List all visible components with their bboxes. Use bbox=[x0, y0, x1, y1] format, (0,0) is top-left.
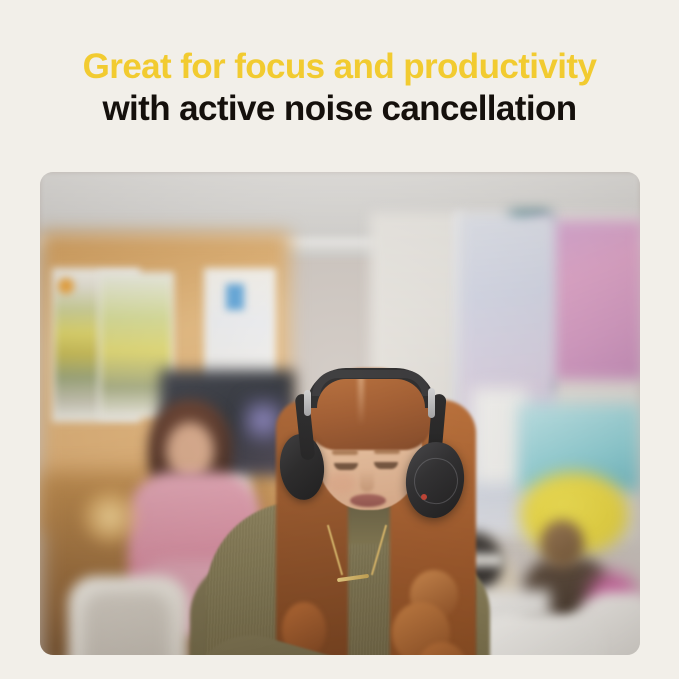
subject-nose bbox=[360, 470, 374, 492]
headphone-status-indicator bbox=[421, 494, 427, 500]
office-chair-left-back bbox=[84, 592, 170, 655]
desk-lamp-glow bbox=[82, 490, 138, 544]
promo-card: Great for focus and productivity with ac… bbox=[0, 0, 679, 679]
subject-cheek-highlight bbox=[326, 472, 356, 494]
subject-eye-right bbox=[374, 462, 398, 469]
headphone-headband-pad bbox=[312, 370, 430, 396]
page-title: Great for focus and productivity with ac… bbox=[0, 46, 679, 130]
background-person-seated-head bbox=[540, 520, 584, 568]
wall-poster-c-accent bbox=[226, 284, 244, 310]
headphone-slider-left bbox=[304, 390, 311, 416]
subject-lips bbox=[350, 494, 386, 507]
office-scene bbox=[40, 172, 640, 655]
wall-poster-a-accent bbox=[58, 278, 74, 294]
subject-eyebrow-left bbox=[332, 450, 358, 455]
lifestyle-photo bbox=[40, 172, 640, 655]
headphone-slider-right bbox=[428, 388, 435, 418]
headline-line-2: with active noise cancellation bbox=[0, 88, 679, 130]
subject-eye-left bbox=[334, 463, 358, 470]
headline-line-1: Great for focus and productivity bbox=[0, 46, 679, 88]
